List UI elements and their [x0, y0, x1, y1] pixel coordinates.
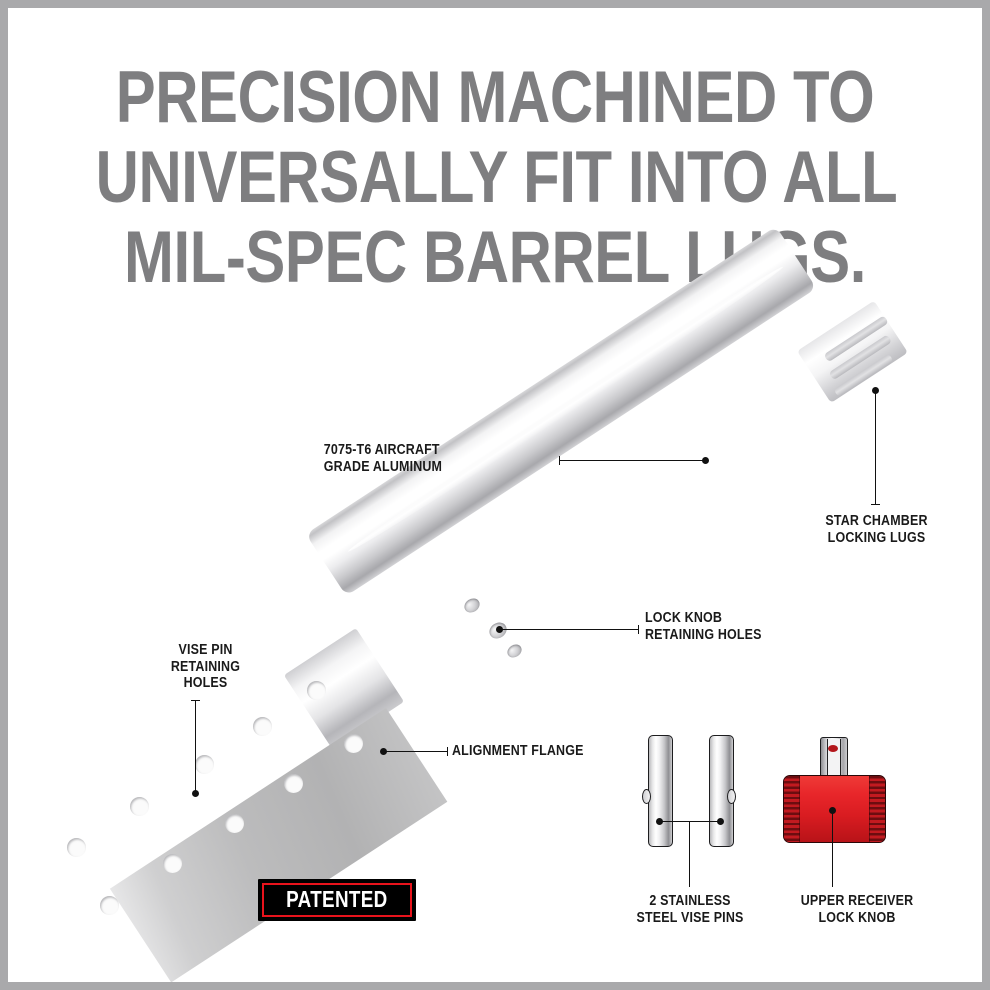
callout-vise-pins-label: 2 STAINLESS STEEL VISE PINS — [627, 893, 753, 926]
callout-vise-pin-holes-tick — [191, 700, 200, 701]
callout-aluminum-line-1: 7075-T6 AIRCRAFT — [324, 442, 427, 459]
callout-upper-receiver-knob-line-2: LOCK KNOB — [775, 910, 938, 927]
infographic-canvas: PRECISION MACHINED TO UNIVERSALLY FIT IN… — [8, 8, 982, 982]
locking-lug-slot-2 — [829, 334, 893, 380]
vise-pin-hole-u5 — [67, 838, 86, 857]
callout-vise-pins-dot-right — [717, 818, 724, 825]
callout-vise-pins-dot-left — [656, 818, 663, 825]
vise-pin-hole-u4 — [130, 797, 149, 816]
callout-vise-pins-line-2: STEEL VISE PINS — [627, 910, 753, 927]
callout-vise-pin-holes-leader — [195, 700, 196, 794]
callout-aluminum-leader — [559, 460, 706, 461]
vise-pin-hole-l4 — [163, 854, 182, 873]
vise-pin-hole-l2 — [284, 774, 303, 793]
callout-upper-receiver-knob-dot — [829, 807, 836, 814]
knob-knurling-right — [869, 776, 885, 842]
callout-star-chamber-line-1: STAR CHAMBER — [801, 513, 952, 530]
callout-lock-knob-holes-tick — [638, 625, 639, 634]
callout-lock-knob-holes-label: LOCK KNOB RETAINING HOLES — [645, 610, 808, 643]
vise-pin-hole-u1 — [307, 681, 326, 700]
barrel-collar-step — [284, 628, 404, 749]
vise-pin-hole-u3 — [195, 755, 214, 774]
patented-badge: PATENTED — [258, 879, 416, 921]
patented-badge-border: PATENTED — [262, 883, 412, 917]
headline-line-3: MIL-SPEC BARREL LUGS. — [96, 218, 895, 298]
callout-vise-pin-holes-dot — [192, 790, 199, 797]
callout-vise-pins-leader — [689, 821, 690, 887]
callout-vise-pin-holes-line-2: RETAINING — [143, 659, 268, 676]
vise-pin-hole-u2 — [253, 717, 272, 736]
lock-knob-post-detail — [828, 745, 838, 752]
callout-star-chamber-leader — [875, 390, 876, 505]
patented-badge-label: PATENTED — [286, 888, 387, 911]
callout-aluminum-tick — [559, 456, 560, 465]
lock-knob-retaining-hole-1 — [462, 596, 483, 616]
headline-line-2: UNIVERSALLY FIT INTO ALL — [96, 138, 895, 218]
callout-upper-receiver-knob-line-1: UPPER RECEIVER — [775, 893, 938, 910]
barrel-highlight — [345, 262, 786, 556]
callout-lock-knob-holes-line-1: LOCK KNOB — [645, 610, 808, 627]
callout-alignment-flange-dot — [380, 748, 387, 755]
callout-vise-pin-holes-line-3: HOLES — [143, 675, 268, 692]
callout-star-chamber-line-2: LOCKING LUGS — [801, 530, 952, 547]
callout-star-chamber-dot — [872, 387, 879, 394]
callout-vise-pins-line-1: 2 STAINLESS — [627, 893, 753, 910]
vise-pin-hole-l3 — [225, 814, 244, 833]
callout-alignment-flange-label: ALIGNMENT FLANGE — [452, 743, 615, 760]
vise-pin-hole-l5 — [100, 896, 119, 915]
headline-line-1: PRECISION MACHINED TO — [96, 58, 895, 138]
callout-vise-pin-holes-label: VISE PIN RETAINING HOLES — [143, 642, 268, 692]
callout-alignment-flange-tick — [447, 747, 448, 756]
vise-pin-2 — [709, 735, 734, 847]
callout-upper-receiver-knob-leader — [832, 810, 833, 887]
star-chamber-lug-block — [797, 301, 908, 403]
callout-vise-pin-holes-line-1: VISE PIN — [143, 642, 268, 659]
vise-pin-2-nub — [727, 789, 736, 804]
vise-pin-hole-l1 — [344, 734, 363, 753]
lock-knob-retaining-hole-3 — [505, 642, 524, 660]
knob-knurling-left — [784, 776, 800, 842]
callout-alignment-flange-line-1: ALIGNMENT FLANGE — [452, 743, 615, 760]
callout-aluminum-dot — [702, 457, 709, 464]
callout-upper-receiver-knob-label: UPPER RECEIVER LOCK KNOB — [775, 893, 938, 926]
lock-knob-post-slot — [827, 739, 841, 777]
vise-pin-1 — [648, 735, 673, 847]
callout-aluminum-line-2: GRADE ALUMINUM — [324, 459, 427, 476]
callout-lock-knob-holes-leader — [499, 629, 639, 630]
locking-lug-slot-3 — [834, 354, 894, 398]
locking-lug-slot-1 — [824, 315, 889, 362]
callout-star-chamber-label: STAR CHAMBER LOCKING LUGS — [801, 513, 952, 546]
callout-star-chamber-tick — [871, 504, 880, 505]
lock-knob-threaded-post — [820, 737, 848, 778]
callout-alignment-flange-leader — [384, 751, 448, 752]
callout-lock-knob-holes-dot — [496, 626, 503, 633]
alignment-flange-plate — [110, 708, 447, 982]
callout-lock-knob-holes-line-2: RETAINING HOLES — [645, 627, 808, 644]
vise-pin-1-nub — [642, 789, 651, 804]
page-title: PRECISION MACHINED TO UNIVERSALLY FIT IN… — [96, 58, 895, 298]
callout-aluminum-label: 7075-T6 AIRCRAFT GRADE ALUMINUM — [324, 442, 427, 475]
